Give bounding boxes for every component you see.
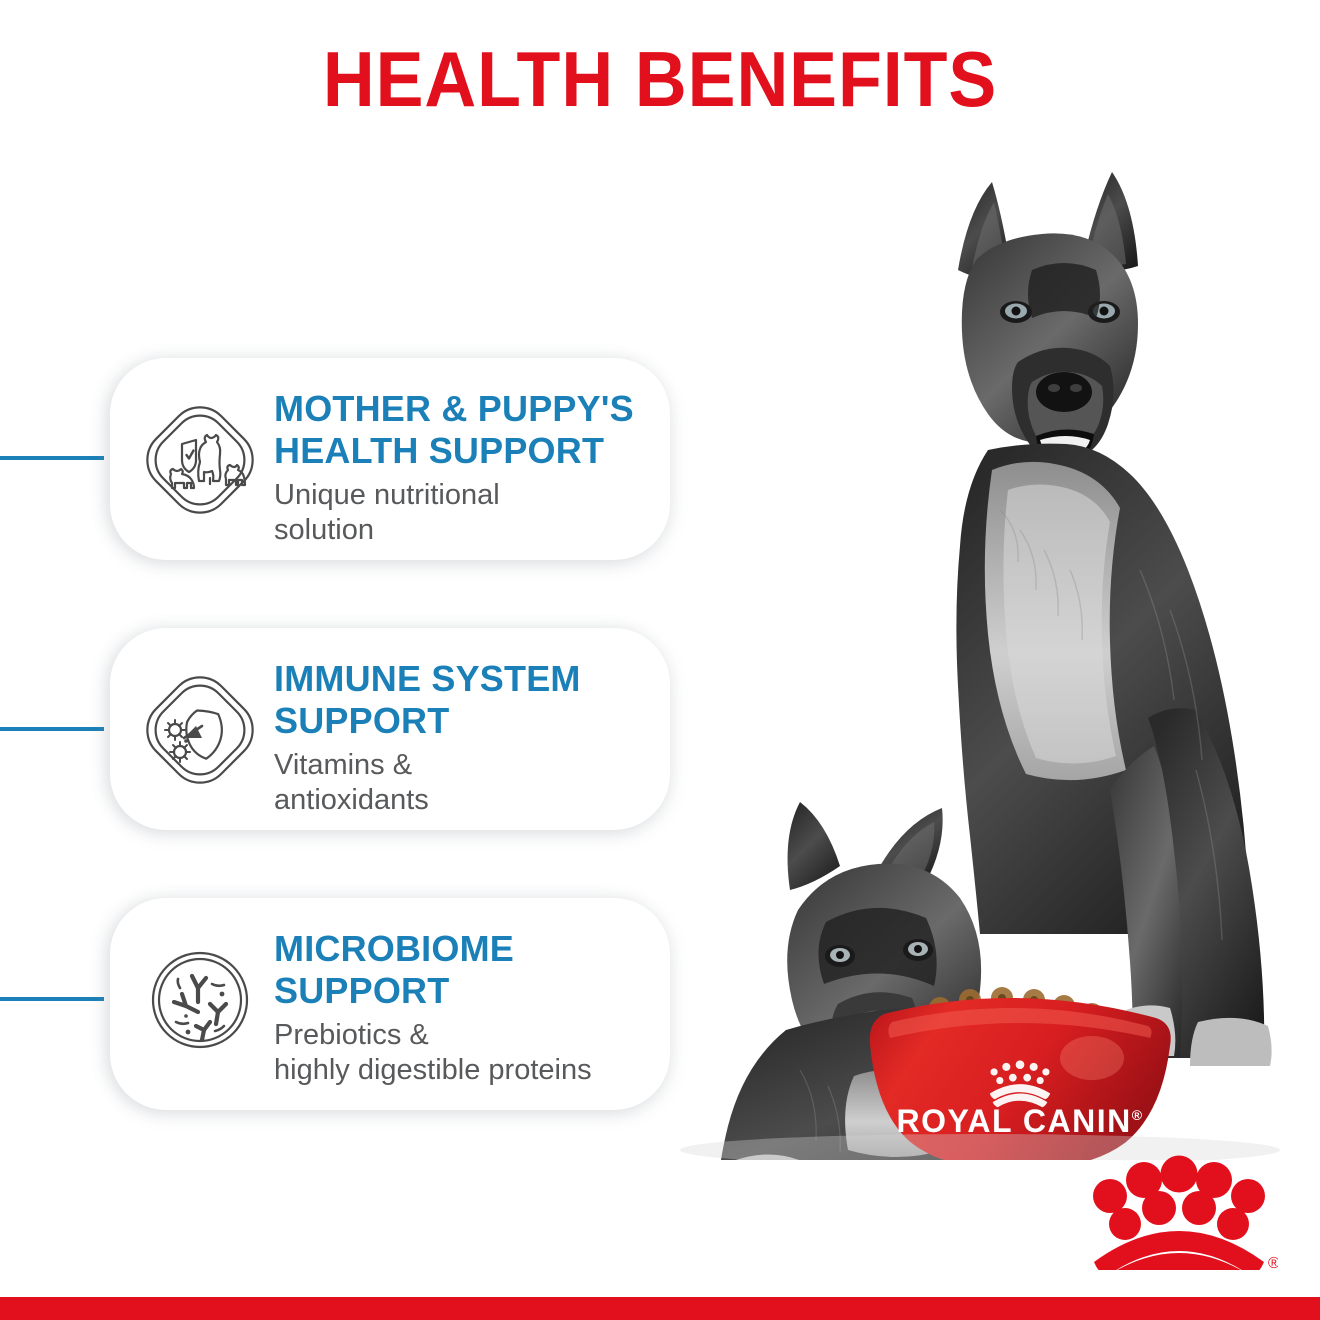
dog-photo: ROYAL CANIN®: [640, 150, 1320, 1160]
royal-canin-bowl: ROYAL CANIN®: [870, 987, 1171, 1160]
bowl-brand-text: ROYAL CANIN®: [896, 1103, 1143, 1139]
connector-line-1: [0, 456, 104, 460]
benefit-text-block: MICROBIOME SUPPORT Prebiotics & highly d…: [274, 924, 670, 1088]
connector-line-2: [0, 727, 104, 731]
benefit-subtext: Unique nutritional solution: [274, 478, 670, 548]
connector-line-3: [0, 997, 104, 1001]
mother-puppy-shield-icon: [140, 400, 260, 520]
health-benefits-page: HEALTH BENEFITS: [0, 0, 1320, 1320]
benefit-heading: MICROBIOME SUPPORT: [274, 928, 670, 1012]
benefit-subtext: Vitamins & antioxidants: [274, 748, 670, 818]
bottom-red-bar: [0, 1297, 1320, 1320]
royal-canin-crown-logo: ®: [1078, 1150, 1278, 1270]
benefit-heading: IMMUNE SYSTEM SUPPORT: [274, 658, 670, 742]
benefit-card-immune-system-support[interactable]: IMMUNE SYSTEM SUPPORT Vitamins & antioxi…: [110, 628, 670, 830]
adult-dog: [956, 172, 1271, 1066]
benefit-subtext: Prebiotics & highly digestible proteins: [274, 1018, 670, 1088]
registered-trademark-mark: ®: [1268, 1255, 1278, 1270]
benefit-heading: MOTHER & PUPPY'S HEALTH SUPPORT: [274, 388, 670, 472]
microbiome-bacteria-icon: [140, 940, 260, 1060]
benefit-text-block: IMMUNE SYSTEM SUPPORT Vitamins & antioxi…: [274, 654, 670, 818]
benefit-text-block: MOTHER & PUPPY'S HEALTH SUPPORT Unique n…: [274, 384, 670, 548]
benefit-card-mother-puppy-health-support[interactable]: MOTHER & PUPPY'S HEALTH SUPPORT Unique n…: [110, 358, 670, 560]
page-title: HEALTH BENEFITS: [53, 38, 1267, 120]
benefit-card-microbiome-support[interactable]: MICROBIOME SUPPORT Prebiotics & highly d…: [110, 898, 670, 1110]
immune-shield-virus-icon: [140, 670, 260, 790]
